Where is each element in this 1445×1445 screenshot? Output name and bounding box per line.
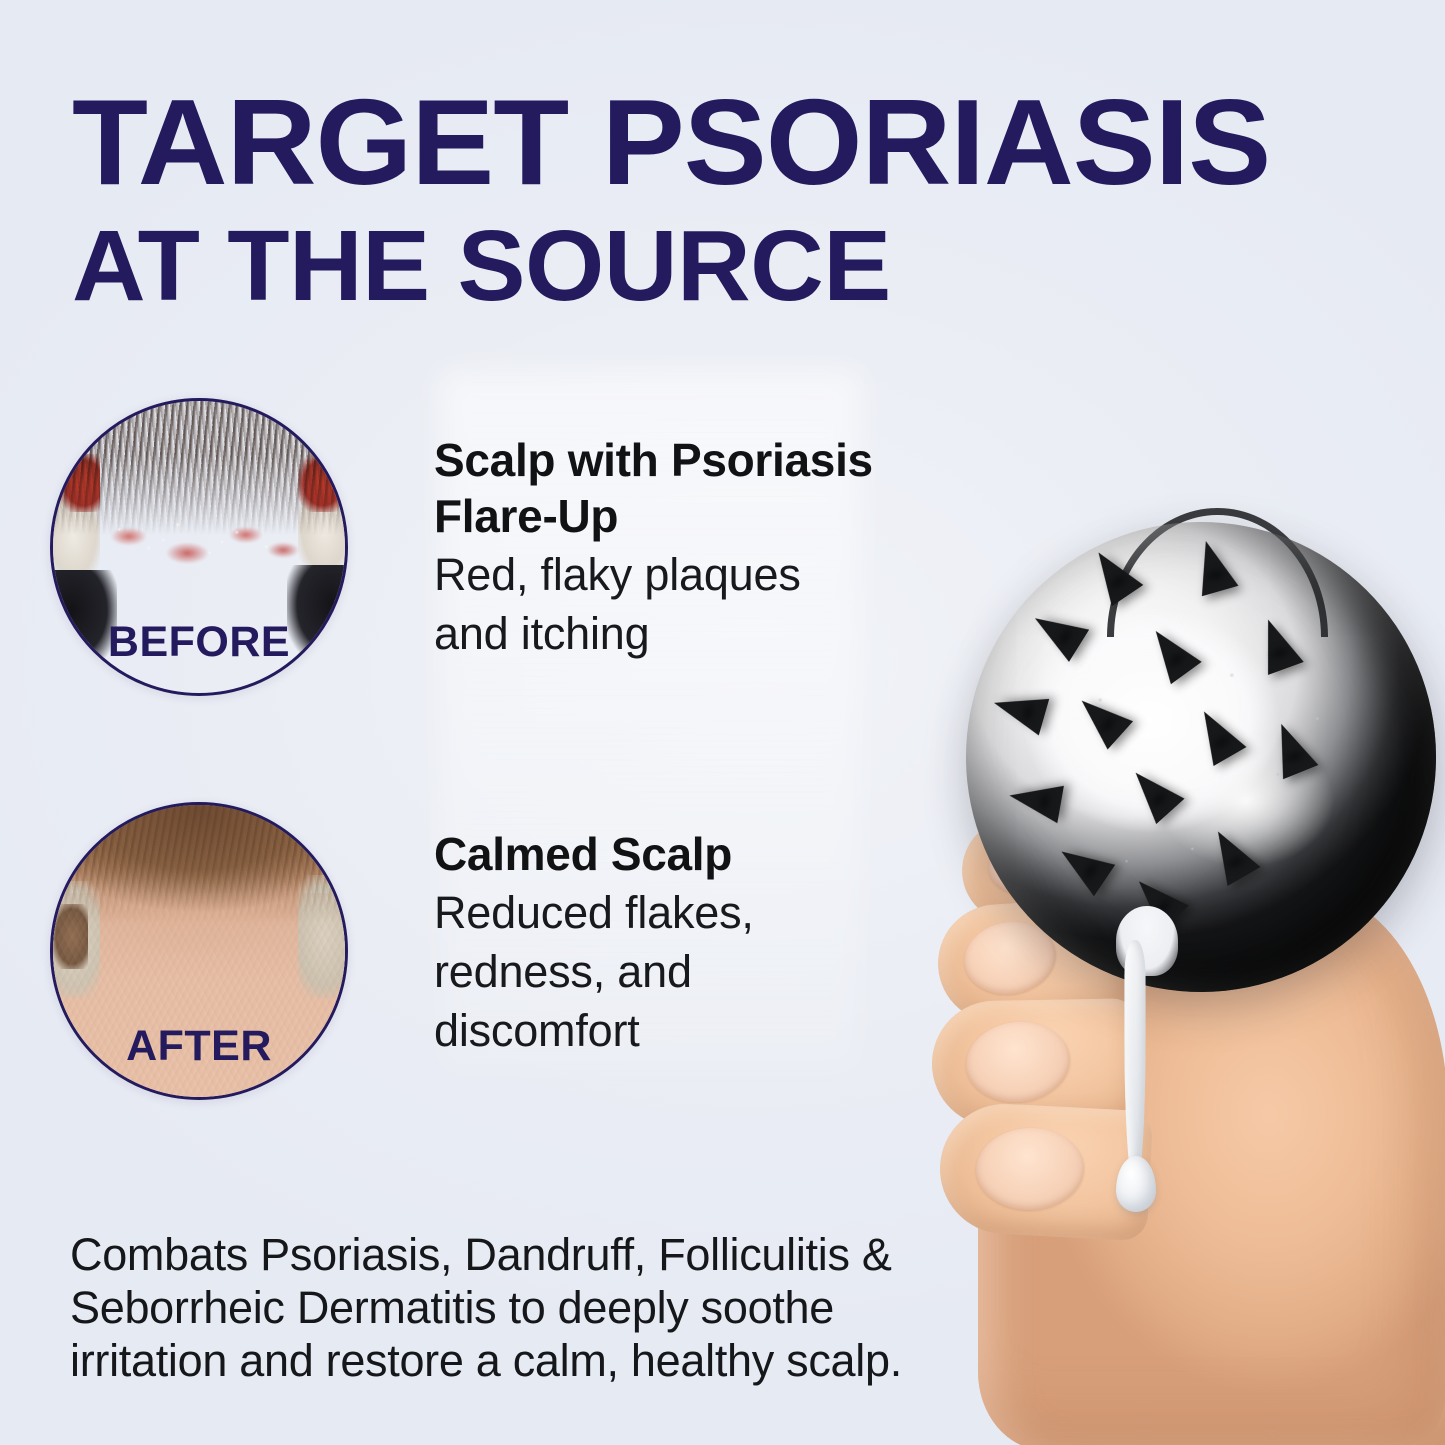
before-flake-specks bbox=[94, 512, 304, 570]
before-label: BEFORE bbox=[53, 618, 345, 667]
footer-line-2: Seborrheic Dermatitis to deeply soothe bbox=[70, 1281, 1100, 1334]
footer-line-3: irritation and restore a calm, healthy s… bbox=[70, 1334, 1100, 1387]
headline-line-2: AT THE SOURCE bbox=[72, 214, 1418, 318]
after-photo-circle: AFTER bbox=[50, 802, 348, 1100]
scalp-massager-brush bbox=[966, 522, 1436, 992]
page-title: TARGET PSORIASIS AT THE SOURCE bbox=[72, 92, 1392, 318]
footer-line-1: Combats Psoriasis, Dandruff, Folliculiti… bbox=[70, 1228, 1100, 1281]
brush-rim-shading bbox=[943, 499, 1445, 1016]
product-infographic: TARGET PSORIASIS AT THE SOURCE BEFORE bbox=[0, 0, 1445, 1445]
after-label: AFTER bbox=[53, 1022, 345, 1071]
before-photo-circle: BEFORE bbox=[50, 398, 348, 696]
headline-line-1: TARGET PSORIASIS bbox=[72, 92, 1418, 192]
footer-description: Combats Psoriasis, Dandruff, Folliculiti… bbox=[70, 1228, 1100, 1387]
